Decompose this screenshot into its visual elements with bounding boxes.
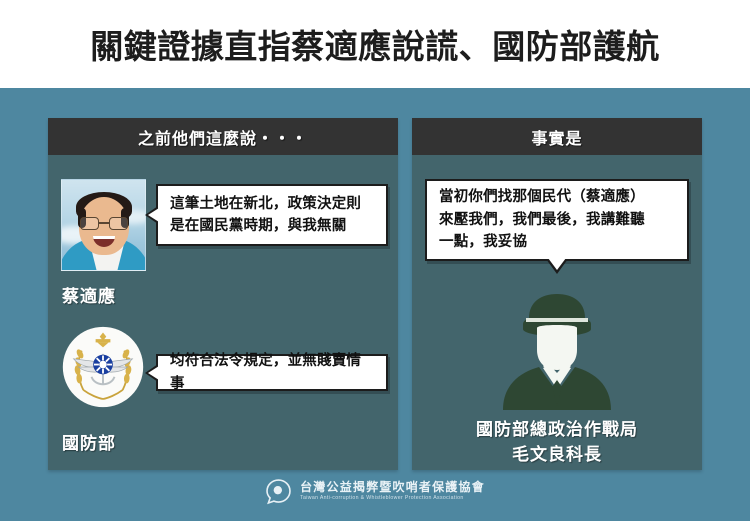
footer-text-group: 台灣公益揭弊暨吹哨者保護協會 Taiwan Anti-corruption & … — [300, 480, 485, 502]
glasses-bridge — [99, 222, 109, 224]
glasses-icon — [80, 217, 128, 230]
military-officer-silhouette-icon — [493, 288, 621, 410]
quote-bubble-mnd: 均符合法令規定，並無賤賣情事 — [156, 354, 388, 391]
glasses-lens-right — [109, 217, 128, 230]
panel-claims-header: 之前他們這麼說・・・ — [48, 118, 398, 155]
caption-mnd: 國防部 — [62, 429, 116, 454]
title-bar: 關鍵證據直指蔡適應說謊、國防部護航 — [0, 0, 750, 88]
quote-text: 這筆土地在新北，政策決定則 是在國民黨時期，與我無關 — [158, 193, 373, 238]
quote-bubble-witness: 當初你們找那個民代（蔡適應） 來壓我們，我們最後，我講難聽 一點，我妥協 — [425, 179, 689, 261]
ministry-of-national-defense-emblem-icon — [62, 326, 144, 408]
association-name-zh: 台灣公益揭弊暨吹哨者保護協會 — [300, 480, 485, 494]
quote-text: 當初你們找那個民代（蔡適應） 來壓我們，我們最後，我講難聽 一點，我妥協 — [427, 186, 657, 253]
caption-politician: 蔡適應 — [62, 282, 116, 307]
page-title: 關鍵證據直指蔡適應說謊、國防部護航 — [90, 20, 660, 68]
panel-facts: 事實是 當初你們找那個民代（蔡適應） 來壓我們，我們最後，我講難聽 一點，我妥協 — [412, 118, 702, 470]
quote-bubble-politician: 這筆土地在新北，政策決定則 是在國民黨時期，與我無關 — [156, 184, 388, 246]
footer-branding: 台灣公益揭弊暨吹哨者保護協會 Taiwan Anti-corruption & … — [0, 478, 750, 505]
glasses-lens-left — [80, 217, 99, 230]
portrait-cai-shiying — [61, 179, 146, 271]
association-name-en: Taiwan Anti-corruption & Whistleblower P… — [300, 495, 485, 503]
quote-text: 均符合法令規定，並無賤賣情事 — [158, 350, 386, 395]
association-logo-icon — [265, 478, 292, 505]
caption-witness: 國防部總政治作戰局 毛文良科長 — [412, 418, 702, 467]
panel-facts-header: 事實是 — [412, 118, 702, 155]
panel-claims: 之前他們這麼說・・・ 這筆土地在新北，政策決定則 是在國民黨時期 — [48, 118, 398, 470]
content-stage: 之前他們這麼說・・・ 這筆土地在新北，政策決定則 是在國民黨時期 — [0, 88, 750, 521]
